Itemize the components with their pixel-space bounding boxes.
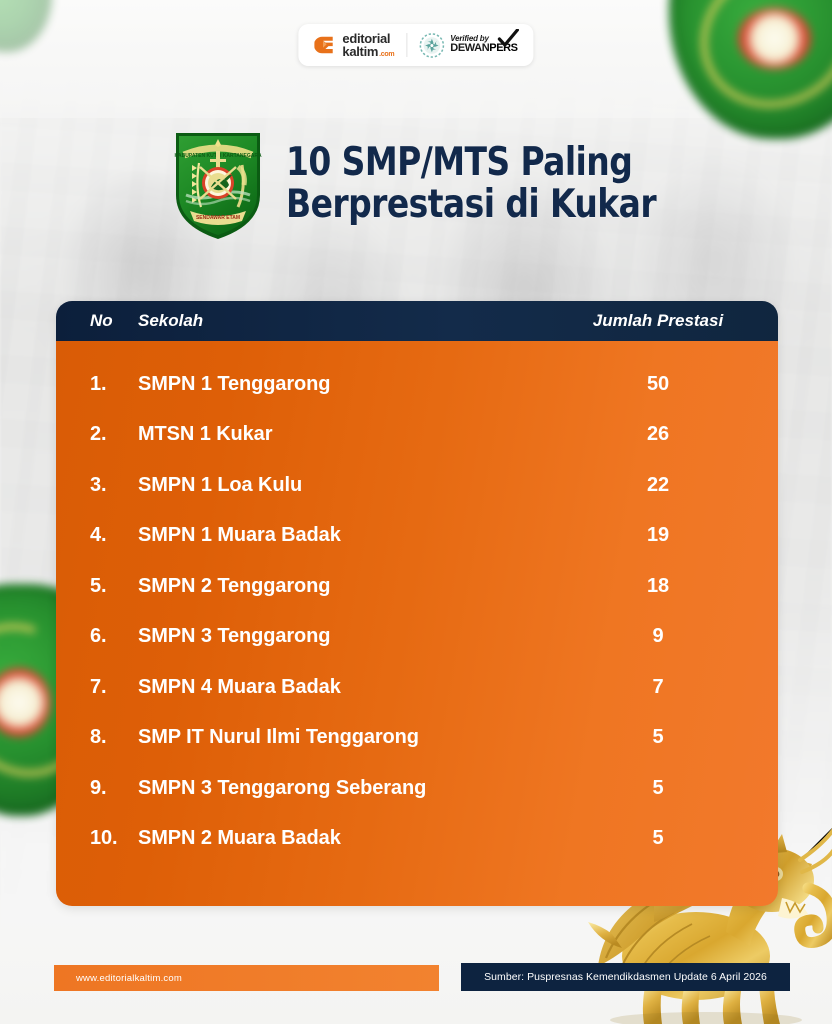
row-achievement-count: 5: [570, 777, 746, 800]
row-rank: 10.: [90, 827, 138, 850]
footer-source-bar: Sumber: Puspresnas Kemendikdasmen Update…: [461, 963, 790, 991]
row-achievement-count: 5: [570, 726, 746, 749]
footer-source-text: Sumber: Puspresnas Kemendikdasmen Update…: [484, 971, 767, 983]
brand-name-line2: kaltim: [342, 45, 378, 58]
column-header-count: Jumlah Prestasi: [570, 311, 746, 331]
table-body: 1.SMPN 1 Tenggarong502.MTSN 1 Kukar263.S…: [56, 341, 778, 906]
row-rank: 9.: [90, 777, 138, 800]
row-school-name: SMPN 1 Tenggarong: [138, 373, 570, 396]
table-row: 5.SMPN 2 Tenggarong18: [90, 561, 746, 612]
row-school-name: SMPN 4 Muara Badak: [138, 676, 570, 699]
editorial-kaltim-e-icon: [314, 34, 336, 56]
table-header-row: No Sekolah Jumlah Prestasi: [56, 301, 778, 341]
row-school-name: SMPN 3 Tenggarong: [138, 625, 570, 648]
column-header-no: No: [90, 311, 138, 331]
page-title: 10 SMP/MTS Paling Berprestasi di Kukar: [286, 142, 656, 225]
row-achievement-count: 5: [570, 827, 746, 850]
table-row: 2.MTSN 1 Kukar26: [90, 410, 746, 461]
editorial-kaltim-logo[interactable]: editorial kaltim .com: [314, 32, 394, 58]
row-rank: 2.: [90, 423, 138, 446]
row-school-name: SMPN 2 Tenggarong: [138, 575, 570, 598]
brand-badge: editorial kaltim .com Veri: [298, 24, 533, 66]
row-rank: 3.: [90, 474, 138, 497]
row-achievement-count: 26: [570, 423, 746, 446]
row-achievement-count: 19: [570, 524, 746, 547]
row-achievement-count: 50: [570, 373, 746, 396]
row-school-name: SMPN 3 Tenggarong Seberang: [138, 777, 570, 800]
row-school-name: SMPN 2 Muara Badak: [138, 827, 570, 850]
ranking-table: No Sekolah Jumlah Prestasi 1.SMPN 1 Teng…: [56, 301, 778, 906]
table-row: 8.SMP IT Nurul Ilmi Tenggarong5: [90, 713, 746, 764]
svg-text:SENDAWAR ETAM: SENDAWAR ETAM: [196, 215, 240, 221]
row-rank: 4.: [90, 524, 138, 547]
row-achievement-count: 9: [570, 625, 746, 648]
footer-website-text[interactable]: www.editorialkaltim.com: [76, 973, 182, 984]
table-row: 7.SMPN 4 Muara Badak7: [90, 662, 746, 713]
table-row: 4.SMPN 1 Muara Badak19: [90, 511, 746, 562]
row-school-name: SMPN 1 Muara Badak: [138, 524, 570, 547]
page-title-block: KABUPATEN KUTAI KARTANEGARA SENDAWAR ETA…: [166, 122, 726, 246]
table-row: 1.SMPN 1 Tenggarong50: [90, 359, 746, 410]
row-rank: 6.: [90, 625, 138, 648]
row-rank: 7.: [90, 676, 138, 699]
column-header-school: Sekolah: [138, 311, 570, 331]
row-rank: 1.: [90, 373, 138, 396]
checkmark-icon: [498, 29, 520, 49]
row-rank: 8.: [90, 726, 138, 749]
kutai-kartanegara-regency-emblem-icon: KABUPATEN KUTAI KARTANEGARA SENDAWAR ETA…: [166, 125, 270, 243]
row-achievement-count: 7: [570, 676, 746, 699]
table-row: 6.SMPN 3 Tenggarong9: [90, 612, 746, 663]
blurred-green-emblem-icon: [0, 0, 52, 52]
table-row: 9.SMPN 3 Tenggarong Seberang5: [90, 763, 746, 814]
row-achievement-count: 22: [570, 474, 746, 497]
divider: [406, 33, 407, 57]
dewan-pers-seal-icon: [419, 33, 444, 58]
verified-org-prefix: DEWAN: [450, 42, 489, 54]
row-rank: 5.: [90, 575, 138, 598]
page-title-line2: Berprestasi di Kukar: [286, 184, 656, 226]
blurred-green-emblem-icon: [669, 0, 832, 139]
row-school-name: MTSN 1 Kukar: [138, 423, 570, 446]
brand-name-suffix: .com: [379, 51, 394, 58]
dewan-pers-verified-badge[interactable]: Verified by DEWANPERS: [419, 33, 517, 58]
table-row: 3.SMPN 1 Loa Kulu22: [90, 460, 746, 511]
table-row: 10.SMPN 2 Muara Badak5: [90, 814, 746, 865]
row-achievement-count: 18: [570, 575, 746, 598]
row-school-name: SMPN 1 Loa Kulu: [138, 474, 570, 497]
footer-website-bar: www.editorialkaltim.com: [54, 965, 439, 991]
row-school-name: SMP IT Nurul Ilmi Tenggarong: [138, 726, 570, 749]
page-title-line1: 10 SMP/MTS Paling: [286, 142, 656, 184]
